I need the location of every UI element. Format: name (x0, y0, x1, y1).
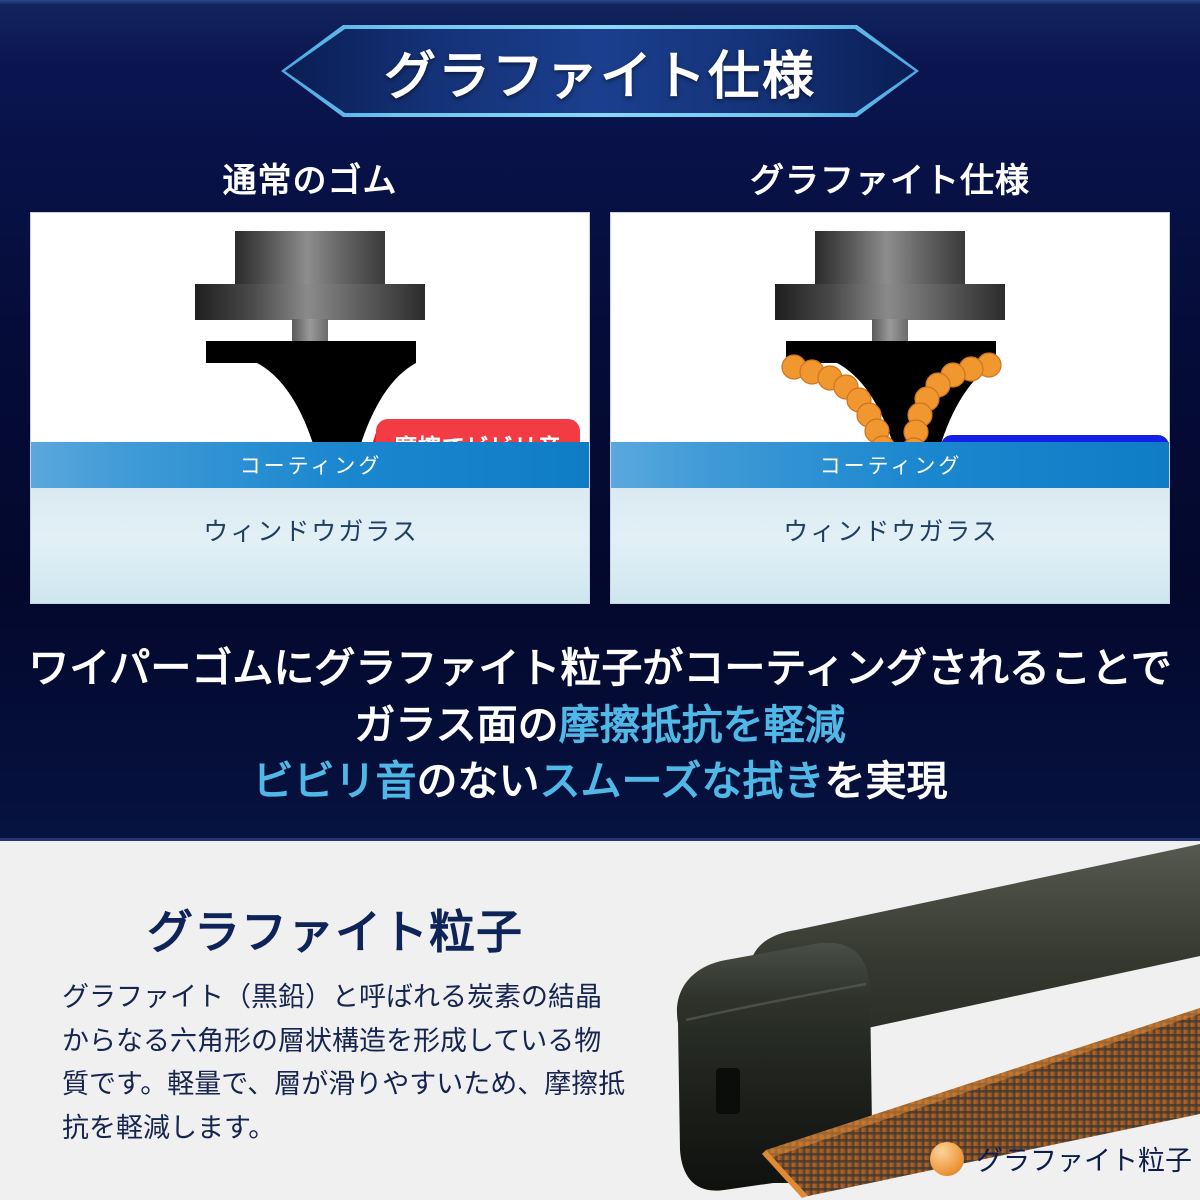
header-banner: グラファイト仕様 (281, 25, 919, 117)
legend-label: グラファイト粒子 (976, 1139, 1192, 1178)
message-line-3: ビビリ音のないスムーズな拭きを実現 (0, 753, 1200, 810)
holder-neck (292, 319, 328, 341)
section-body-text: グラファイト（黒鉛）と呼ばれる炭素の結晶からなる六角形の層状構造を形成している物… (62, 976, 627, 1151)
diagram-graphite-spec: スムーズな動き 摩擦抵抗が少ない グラファイト粒子 コーティング ウィンドウガラ… (610, 212, 1170, 604)
graphite-description-block: グラファイト粒子 グラファイト（黒鉛）と呼ばれる炭素の結晶からなる六角形の層状構… (62, 896, 627, 1151)
message-line-3-plain-b: を実現 (824, 758, 947, 804)
panel-graphite-spec: グラファイト仕様 (610, 152, 1170, 604)
product-feature-infographic: グラファイト仕様 通常のゴム (0, 0, 1200, 1200)
wiper-holder-icon (775, 231, 1005, 341)
message-line-1: ワイパーゴムにグラファイト粒子がコーティングされることで (0, 640, 1200, 697)
graphite-particle-icon (930, 1142, 964, 1176)
page-title: グラファイト仕様 (384, 34, 816, 109)
glass-layer-right: ウィンドウガラス (611, 488, 1170, 603)
glass-layer-left: ウィンドウガラス (31, 488, 590, 603)
panel-title-graphite: グラファイト仕様 (610, 152, 1170, 212)
message-line-3-highlight-b: スムーズな拭き (540, 758, 825, 804)
message-line-2-plain: ガラス面の (354, 702, 558, 748)
message-line-3-plain-a: のない (417, 758, 540, 804)
glass-label-left: ウィンドウガラス (203, 512, 419, 548)
holder-flange (195, 284, 425, 320)
photo-legend: グラファイト粒子 (930, 1139, 1192, 1178)
holder-flange (775, 284, 1005, 320)
glass-label-right: ウィンドウガラス (783, 512, 999, 548)
top-navy-section: グラファイト仕様 通常のゴム (0, 0, 1200, 838)
message-line-2: ガラス面の摩擦抵抗を軽減 (0, 697, 1200, 754)
holder-neck (872, 319, 908, 341)
wiper-holder-icon (195, 231, 425, 341)
diagram-normal-rubber: 摩擦抵抗が大きい 摩擦でビビリ音 コーティング ウィンドウガラス (30, 212, 590, 604)
summary-message: ワイパーゴムにグラファイト粒子がコーティングされることで ガラス面の摩擦抵抗を軽… (0, 640, 1200, 810)
coating-layer-right: コーティング (611, 442, 1170, 488)
message-line-2-highlight: 摩擦抵抗を軽減 (559, 702, 846, 748)
header-banner-inner: グラファイト仕様 (285, 29, 915, 113)
coating-label-right: コーティング (820, 450, 963, 480)
coating-label-left: コーティング (240, 450, 383, 480)
wiper-blade-photo: グラファイト粒子 (600, 838, 1200, 1200)
message-line-3-highlight-a: ビビリ音 (253, 758, 417, 804)
holder-cap (235, 231, 385, 285)
panel-title-normal: 通常のゴム (30, 152, 590, 212)
bottom-description-section: グラファイト粒子 グラファイト（黒鉛）と呼ばれる炭素の結晶からなる六角形の層状構… (0, 838, 1200, 1200)
holder-cap (815, 231, 965, 285)
section-title-graphite-particle: グラファイト粒子 (147, 896, 627, 962)
coating-layer-left: コーティング (31, 442, 590, 488)
panel-normal-rubber: 通常のゴム (30, 152, 590, 604)
